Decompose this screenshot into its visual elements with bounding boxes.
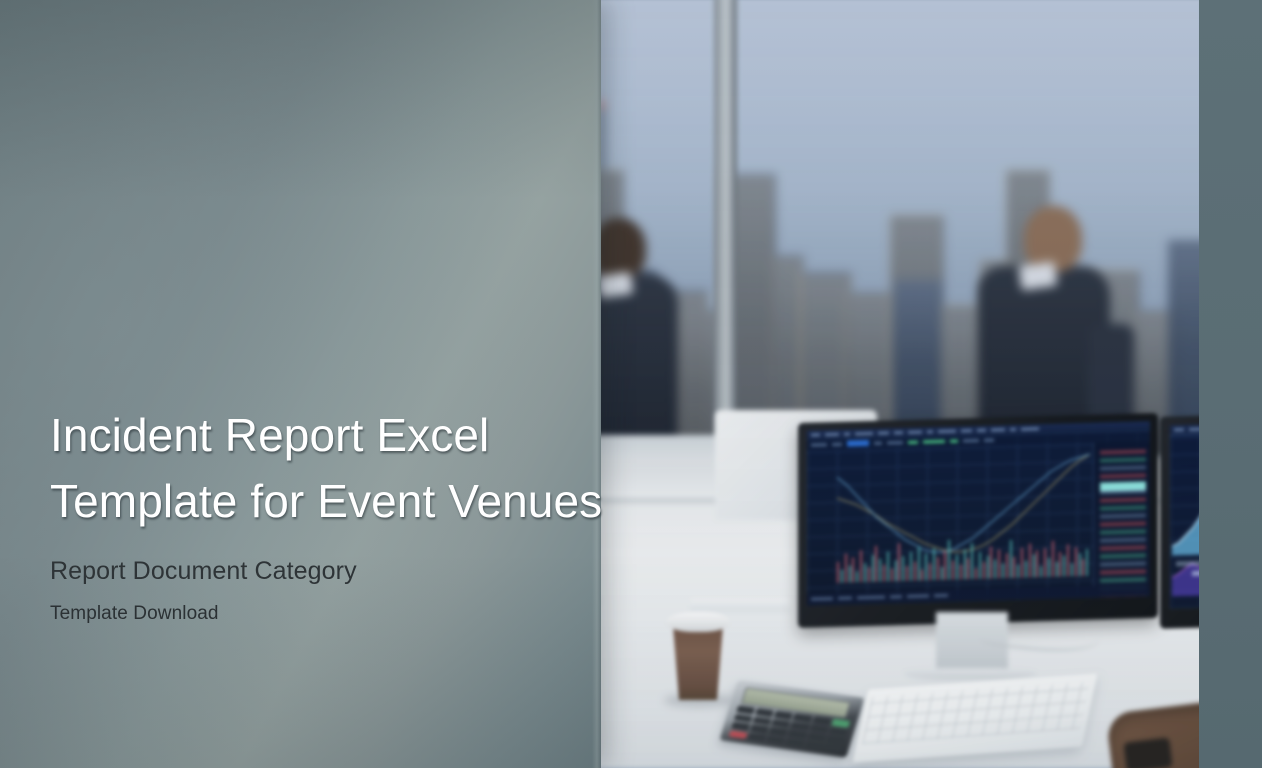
page-title-line-1: Incident Report Excel	[50, 402, 610, 468]
monitor-secondary-screen	[1170, 422, 1200, 608]
monitor-secondary	[1160, 415, 1200, 627]
presentation-slide: Incident Report Excel Template for Event…	[0, 0, 1262, 768]
right-color-band	[1199, 0, 1262, 768]
coffee-cup	[670, 612, 726, 700]
window-mullion	[714, 0, 737, 470]
cup-sleeve	[673, 626, 723, 700]
slide-caption: Template Download	[50, 601, 610, 627]
trading-terminal-screen	[807, 421, 1150, 606]
quote-panel	[1093, 441, 1150, 586]
slide-subtitle: Report Document Category	[50, 554, 610, 588]
slide-text-block: Incident Report Excel Template for Event…	[50, 402, 610, 627]
cup-lid	[666, 612, 730, 632]
chair-hardware	[1123, 737, 1172, 768]
background-photograph	[560, 0, 1200, 768]
monitor-primary	[798, 418, 1158, 623]
terminal-toolbar-secondary	[1170, 422, 1200, 435]
papers-on-desk	[690, 598, 790, 612]
volume-bars	[837, 536, 1090, 583]
area-chart	[1172, 464, 1200, 556]
page-title-line-2: Template for Event Venues	[50, 468, 610, 534]
frosted-panel	[0, 0, 601, 768]
panel-edge-highlight	[592, 0, 601, 768]
